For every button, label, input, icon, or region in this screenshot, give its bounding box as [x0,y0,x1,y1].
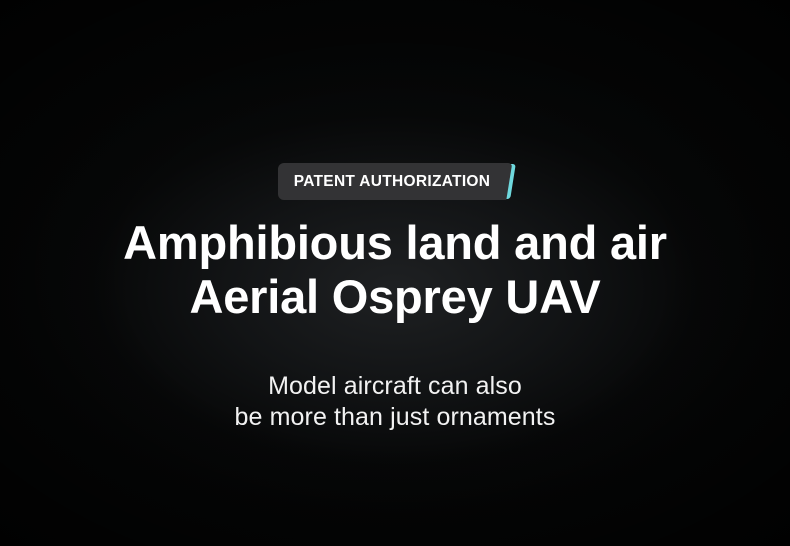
banner-subtitle-line-1: Model aircraft can also [235,371,556,402]
banner-subtitle: Model aircraft can also be more than jus… [235,371,556,433]
banner-title-line-1: Amphibious land and air [123,216,667,270]
banner-subtitle-line-2: be more than just ornaments [235,402,556,433]
promo-banner: PATENT AUTHORIZATION Amphibious land and… [0,0,790,546]
banner-title: Amphibious land and air Aerial Osprey UA… [123,216,667,324]
banner-title-line-2: Aerial Osprey UAV [123,270,667,324]
badge-label: PATENT AUTHORIZATION [294,174,491,190]
patent-authorization-badge: PATENT AUTHORIZATION [278,163,513,200]
badge-plate: PATENT AUTHORIZATION [278,163,513,200]
banner-content: PATENT AUTHORIZATION Amphibious land and… [0,0,790,546]
